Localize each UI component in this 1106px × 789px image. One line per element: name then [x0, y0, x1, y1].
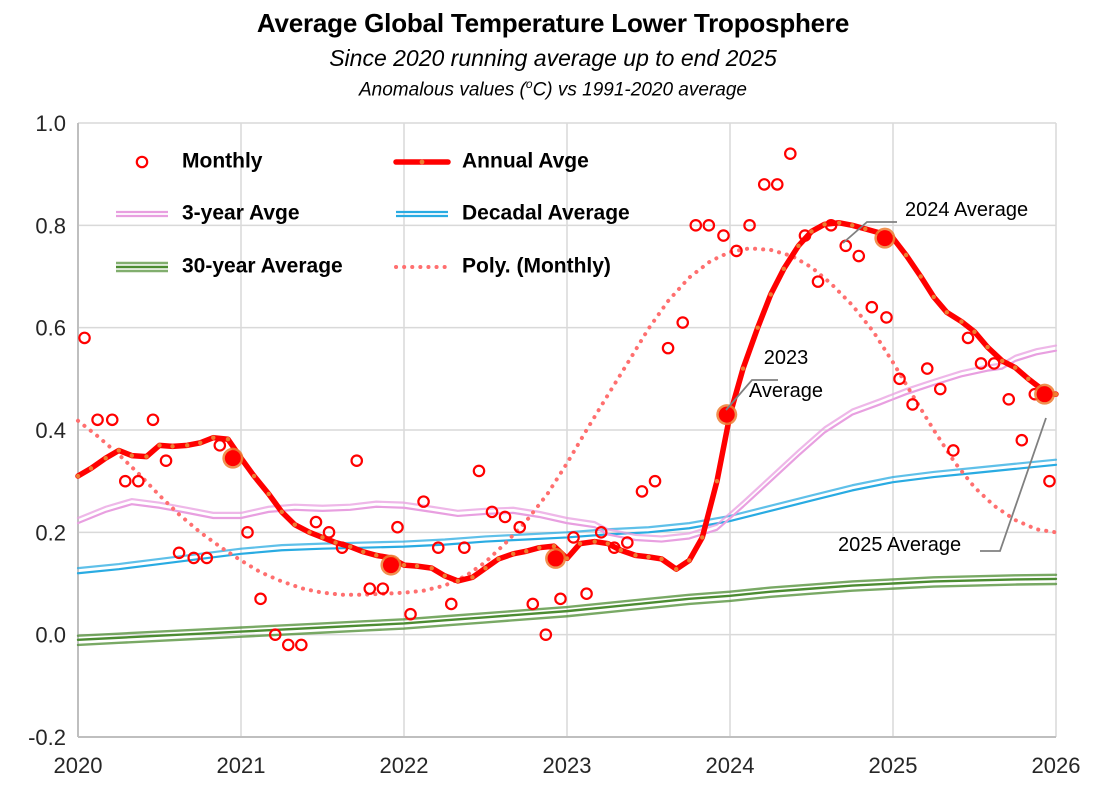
annual-data-point: [863, 227, 867, 231]
legend-item-3-year-avge[interactable]: 3-year Avge: [116, 202, 300, 225]
monthly-data-point: [663, 343, 673, 353]
annual-data-point: [280, 510, 284, 514]
y-axis-tick-labels: 1.00.80.60.40.20.0-0.2: [28, 111, 66, 750]
annual-data-point: [809, 229, 813, 233]
annual-data-point: [470, 575, 474, 579]
monthly-data-point: [120, 476, 130, 486]
leader-line-annot-2025: [980, 418, 1046, 551]
annual-data-point: [919, 274, 923, 278]
annual-data-point: [945, 310, 949, 314]
annot-2023-label: 2023: [764, 347, 809, 369]
legend-marker-icon: [137, 157, 147, 167]
legend-label: 3-year Avge: [182, 202, 300, 225]
annual-data-point: [674, 567, 678, 571]
annual-data-point: [837, 221, 841, 225]
monthly-data-point: [161, 456, 171, 466]
annual-data-point: [333, 540, 337, 544]
legend-item-30-year-average[interactable]: 30-year Average: [116, 255, 343, 278]
annual-data-point: [524, 549, 528, 553]
annual-data-point: [932, 295, 936, 299]
monthly-data-point: [555, 594, 565, 604]
chart-root: Average Global Temperature Lower Troposp…: [0, 0, 1106, 789]
annual-data-point: [1000, 359, 1004, 363]
monthly-data-point: [1017, 435, 1027, 445]
annual-average-marker[interactable]: [225, 450, 241, 466]
monthly-data-point: [311, 517, 321, 527]
annual-average-marker[interactable]: [548, 550, 564, 566]
annual-data-point: [972, 330, 976, 334]
annual-data-point: [1026, 377, 1030, 381]
monthly-data-point: [365, 583, 375, 593]
annual-data-point: [483, 566, 487, 570]
chart-plot-area: 1.00.80.60.40.20.0-0.2 20202021202220232…: [0, 0, 1106, 789]
annual-data-point: [782, 267, 786, 271]
annual-data-point: [822, 222, 826, 226]
annual-data-point: [593, 539, 597, 543]
y-tick-label: 1.0: [35, 111, 66, 136]
x-tick-label: 2020: [54, 753, 103, 778]
annual-data-point: [130, 453, 134, 457]
annual-data-point: [267, 492, 271, 496]
monthly-data-point: [215, 440, 225, 450]
annual-data-point: [496, 557, 500, 561]
annual-data-point: [633, 553, 637, 557]
monthly-data-point: [854, 251, 864, 261]
monthly-data-point: [107, 415, 117, 425]
annual-average-marker[interactable]: [1037, 386, 1053, 402]
annotation-labels: 2024 Average2023Average2025 Average: [749, 199, 1028, 556]
monthly-data-point: [474, 466, 484, 476]
x-tick-label: 2021: [217, 753, 266, 778]
annual-data-point: [157, 443, 161, 447]
annual-data-point: [320, 535, 324, 539]
annual-average-marker[interactable]: [877, 230, 893, 246]
annot-2023-label-line2: Average: [749, 380, 823, 402]
legend-item-decadal-average[interactable]: Decadal Average: [396, 202, 630, 225]
annual-data-point: [606, 541, 610, 545]
legend-line-marker-icon: [420, 160, 425, 165]
annual-data-point: [430, 566, 434, 570]
monthly-data-point: [772, 179, 782, 189]
monthly-data-point: [255, 594, 265, 604]
monthly-data-point: [935, 384, 945, 394]
monthly-data-point: [785, 149, 795, 159]
monthly-data-point: [79, 333, 89, 343]
annual-data-point: [850, 223, 854, 227]
x-tick-label: 2026: [1032, 753, 1081, 778]
annual-data-point: [796, 244, 800, 248]
monthly-data-point: [678, 317, 688, 327]
annual-data-point: [552, 544, 556, 548]
y-tick-label: 0.8: [35, 213, 66, 238]
legend-item-poly-monthly-[interactable]: Poly. (Monthly): [396, 255, 611, 278]
annual-data-point: [700, 535, 704, 539]
x-tick-label: 2023: [543, 753, 592, 778]
monthly-data-point: [963, 333, 973, 343]
legend-label: Poly. (Monthly): [462, 255, 611, 278]
legend-item-annual-avge[interactable]: Annual Avge: [396, 150, 589, 173]
annual-data-point: [361, 550, 365, 554]
y-tick-label: 0.6: [35, 316, 66, 341]
legend-label: Decadal Average: [462, 202, 630, 225]
annual-data-point: [1013, 365, 1017, 369]
annual-data-point: [646, 555, 650, 559]
annual-data-point: [687, 558, 691, 562]
annual-data-point: [578, 541, 582, 545]
monthly-data-point: [92, 415, 102, 425]
legend-label: Annual Avge: [462, 150, 589, 173]
legend-label: 30-year Average: [182, 255, 343, 278]
annual-data-point: [769, 292, 773, 296]
annual-data-point: [904, 253, 908, 257]
annual-data-point: [226, 437, 230, 441]
x-tick-label: 2024: [706, 753, 755, 778]
monthly-data-point: [148, 415, 158, 425]
annual-data-point: [402, 563, 406, 567]
annual-data-point: [715, 479, 719, 483]
monthly-data-point: [528, 599, 538, 609]
y-tick-label: 0.4: [35, 418, 66, 443]
annual-data-point: [104, 456, 108, 460]
annual-data-point: [76, 474, 80, 478]
annual-data-point: [456, 579, 460, 583]
annual-data-point: [170, 444, 174, 448]
annual-data-point: [959, 319, 963, 323]
annual-data-point: [198, 441, 202, 445]
annual-data-point: [348, 544, 352, 548]
monthly-data-point: [948, 445, 958, 455]
monthly-data-point: [637, 486, 647, 496]
annual-data-point: [185, 443, 189, 447]
monthly-data-point: [515, 522, 525, 532]
annual-data-point: [374, 553, 378, 557]
monthly-data-point: [650, 476, 660, 486]
x-tick-label: 2022: [380, 753, 429, 778]
monthly-data-point: [881, 312, 891, 322]
monthly-data-point: [283, 640, 293, 650]
annual-data-point: [741, 366, 745, 370]
monthly-data-point: [867, 302, 877, 312]
monthly-data-point: [581, 589, 591, 599]
monthly-data-point: [446, 599, 456, 609]
annual-data-point: [293, 522, 297, 526]
legend-item-monthly[interactable]: Monthly: [137, 150, 263, 173]
monthly-data-point: [352, 456, 362, 466]
x-axis-tick-labels: 2020202120222023202420252026: [54, 753, 1081, 778]
y-tick-label: 0.2: [35, 520, 66, 545]
monthly-data-point: [392, 522, 402, 532]
annual-data-point: [307, 530, 311, 534]
annual-data-point: [619, 548, 623, 552]
chart-legend: MonthlyAnnual Avge3-year AvgeDecadal Ave…: [116, 150, 630, 278]
monthly-data-point: [133, 476, 143, 486]
monthly-data-point: [1044, 476, 1054, 486]
annot-2025-label: 2025 Average: [838, 534, 961, 556]
monthly-data-point: [813, 276, 823, 286]
annual-data-point: [415, 564, 419, 568]
annual-data-point: [117, 448, 121, 452]
annual-average-marker[interactable]: [383, 557, 399, 573]
annual-data-point: [511, 552, 515, 556]
monthly-data-point: [1004, 394, 1014, 404]
annual-data-point: [756, 325, 760, 329]
annual-data-point: [443, 574, 447, 578]
monthly-data-point: [296, 640, 306, 650]
monthly-data-point: [759, 179, 769, 189]
y-tick-label: -0.2: [28, 725, 66, 750]
monthly-data-point: [922, 363, 932, 373]
x-tick-label: 2025: [869, 753, 918, 778]
annot-2024-label: 2024 Average: [905, 199, 1028, 221]
annual-data-point: [252, 474, 256, 478]
annual-data-point: [211, 435, 215, 439]
annual-data-point: [537, 545, 541, 549]
annual-data-point: [144, 454, 148, 458]
legend-label: Monthly: [182, 150, 263, 173]
monthly-data-point: [718, 230, 728, 240]
annual-data-point: [659, 557, 663, 561]
annual-data-point: [89, 466, 93, 470]
monthly-data-point: [841, 241, 851, 251]
y-tick-label: 0.0: [35, 623, 66, 648]
annual-data-point: [985, 345, 989, 349]
